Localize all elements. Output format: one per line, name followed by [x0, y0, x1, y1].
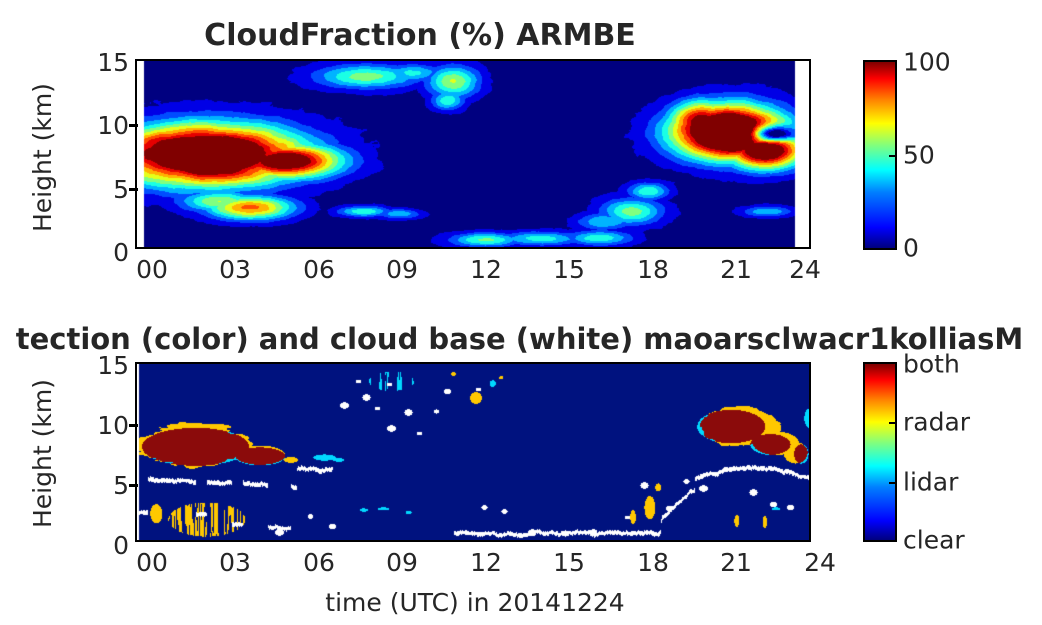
panel-cloud-fraction: CloudFraction (%) ARMBE Height (km) 15 1…	[0, 0, 1042, 312]
colorbar-label-clear: clear	[903, 526, 965, 555]
x-tick-top-18: 18	[637, 255, 669, 284]
y-tick-bottom-0: 0	[85, 544, 129, 545]
y-tick-bottom-15: 15	[85, 364, 129, 365]
heatmap-cloud-fraction	[137, 61, 809, 247]
colorbar-cloud-detection	[863, 362, 897, 542]
y-tick-top-5: 5	[85, 188, 129, 189]
colorbar-tick-0: 0	[903, 234, 919, 263]
y-tick-top-0: 0	[85, 251, 129, 252]
x-tick-bottom-15: 15	[553, 548, 585, 577]
x-tick-bottom-00: 00	[136, 548, 168, 577]
colorbar-label-lidar: lidar	[903, 468, 958, 497]
colorbar-label-radar: radar	[903, 408, 970, 437]
x-tick-bottom-12: 12	[470, 548, 502, 577]
x-tick-bottom-21: 21	[720, 548, 752, 577]
x-tick-top-12: 12	[470, 255, 502, 284]
y-tick-top-15: 15	[85, 61, 129, 62]
colorbar-tick-50: 50	[903, 141, 935, 170]
x-tick-bottom-09: 09	[386, 548, 418, 577]
y-tick-bottom-10: 10	[85, 424, 129, 425]
panel-bottom-title: tection (color) and cloud base (white) m…	[0, 322, 1042, 356]
x-tick-bottom-03: 03	[219, 548, 251, 577]
colorbar-label-both: both	[903, 350, 960, 379]
colorbar-tick-100: 100	[903, 48, 951, 77]
x-tick-top-06: 06	[303, 255, 335, 284]
x-axis-label: time (UTC) in 20141224	[0, 588, 950, 617]
plot-area-cloud-detection: 15 10 5 0	[135, 362, 811, 542]
x-tick-top-21: 21	[720, 255, 752, 284]
plot-area-cloud-fraction: 15 10 5 0	[135, 59, 811, 249]
heatmap-canvas-wrap-top	[137, 61, 809, 247]
x-tick-top-00: 00	[136, 255, 168, 284]
x-tick-bottom-18: 18	[637, 548, 669, 577]
y-tick-bottom-5: 5	[85, 484, 129, 485]
y-axis-label-top: Height (km)	[28, 83, 57, 232]
x-tick-top-09: 09	[386, 255, 418, 284]
x-tick-top-03: 03	[219, 255, 251, 284]
x-tick-top-15: 15	[553, 255, 585, 284]
y-axis-label-bottom: Height (km)	[28, 379, 57, 528]
heatmap-canvas-wrap-bottom	[137, 364, 809, 540]
x-tick-bottom-06: 06	[303, 548, 335, 577]
y-tick-top-10: 10	[85, 124, 129, 125]
heatmap-cloud-detection	[137, 364, 809, 540]
x-tick-top-24: 24	[789, 255, 821, 284]
x-tick-bottom-24: 24	[804, 548, 836, 577]
